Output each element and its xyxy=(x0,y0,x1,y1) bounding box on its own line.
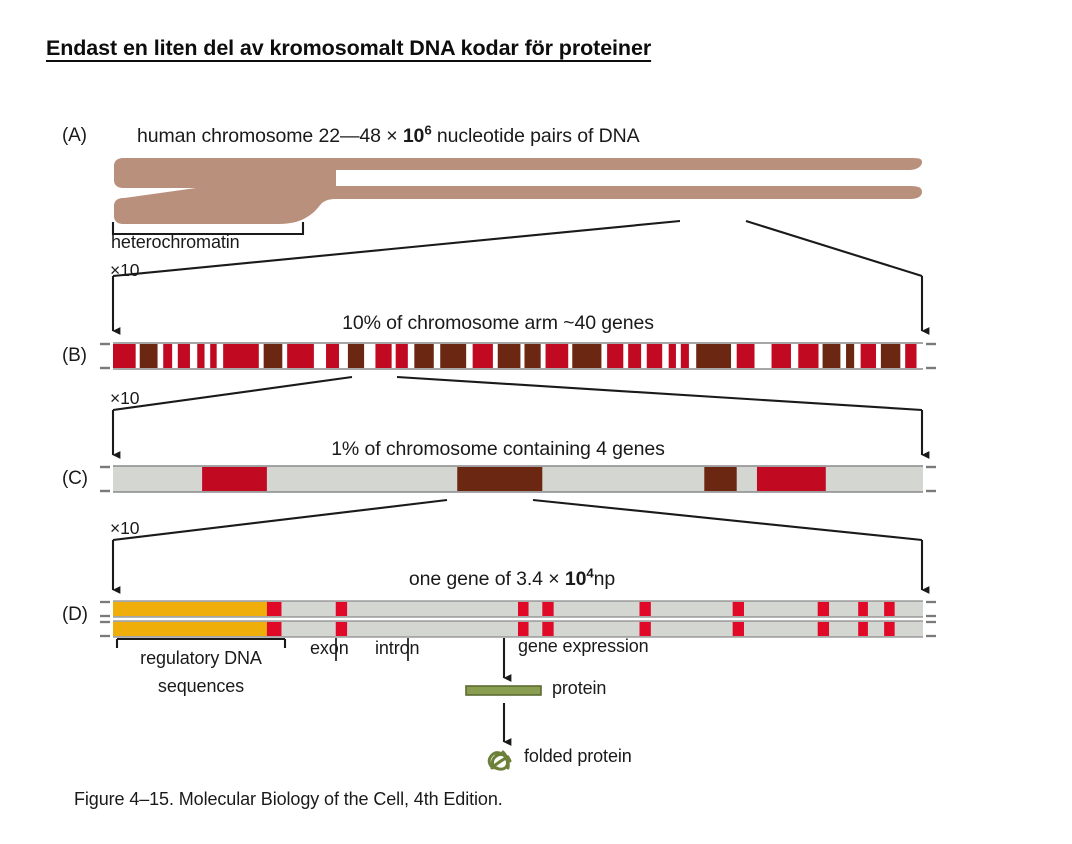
chromatin-band xyxy=(572,344,601,368)
panel-a-heading-post: nucleotide pairs of DNA xyxy=(437,125,640,147)
chromatin-band xyxy=(823,344,841,368)
panel-a-heading-exponent: 6 xyxy=(424,123,431,138)
panel-b-heading: 10% of chromosome arm ~40 genes xyxy=(342,312,654,335)
panel-d-heading-post: np xyxy=(594,568,616,590)
chromatin-band xyxy=(197,344,204,368)
exon-band xyxy=(858,602,868,616)
exon-band xyxy=(518,622,529,636)
chromatin-band xyxy=(905,344,916,368)
panel-a-heading-pre: human chromosome 22—48 xyxy=(137,125,381,147)
gene-expression-label: gene expression xyxy=(518,636,649,657)
chromatin-band xyxy=(681,344,689,368)
chromatin-band xyxy=(696,344,731,368)
exon-band xyxy=(818,622,829,636)
gene-block xyxy=(704,467,736,491)
panel-a-heading: human chromosome 22—48 × 106 nucleotide … xyxy=(137,125,639,148)
chromatin-band xyxy=(178,344,190,368)
folded-protein-label: folded protein xyxy=(524,746,632,767)
exon-band xyxy=(733,602,744,616)
chromatin-band xyxy=(440,344,466,368)
chromatin-band xyxy=(881,344,900,368)
chromatin-band xyxy=(396,344,408,368)
chromatin-band xyxy=(607,344,623,368)
regulatory-dna-region xyxy=(113,622,267,636)
exon-band xyxy=(818,602,829,616)
chromatin-band xyxy=(647,344,662,368)
exon-band xyxy=(336,602,347,616)
exon-band xyxy=(640,602,651,616)
protein-label: protein xyxy=(552,678,606,699)
folded-protein-icon xyxy=(489,752,510,769)
connector-a-to-b-right xyxy=(746,221,922,331)
regulatory-dna-label-line1: regulatory DNA xyxy=(140,648,262,669)
multiplication-sign: × xyxy=(386,125,397,147)
figure-container: (A) human chromosome 22—48 × 106 nucleot… xyxy=(0,0,1072,844)
panel-c-heading: 1% of chromosome containing 4 genes xyxy=(331,438,665,461)
exon-band xyxy=(884,602,895,616)
magnification-b-to-c: ×10 xyxy=(110,388,139,409)
exon-band xyxy=(542,602,553,616)
panel-b-letter: (B) xyxy=(62,345,87,367)
centromere-fill xyxy=(310,168,336,190)
exon-band xyxy=(733,622,744,636)
chromatin-band xyxy=(348,344,364,368)
exon-band xyxy=(267,602,282,616)
exon-band xyxy=(267,622,282,636)
chromatin-band xyxy=(546,344,569,368)
chromatin-band xyxy=(861,344,876,368)
panel-b-bar xyxy=(100,343,936,369)
panel-d-heading-exponent: 4 xyxy=(586,566,593,581)
figure-caption: Figure 4–15. Molecular Biology of the Ce… xyxy=(74,789,503,810)
panel-a-chromosome xyxy=(114,158,922,224)
chromatin-band xyxy=(628,344,641,368)
chromatin-band xyxy=(375,344,391,368)
chromatin-band xyxy=(669,344,676,368)
chromatin-band xyxy=(210,344,216,368)
gene-block xyxy=(202,467,267,491)
connector-c-to-d-left xyxy=(113,500,447,590)
chromatin-band xyxy=(524,344,540,368)
exon-band xyxy=(518,602,529,616)
heterochromatin-label: heterochromatin xyxy=(111,232,240,253)
chromatin-band xyxy=(737,344,755,368)
chromatin-band xyxy=(414,344,433,368)
exon-band xyxy=(884,622,895,636)
magnification-c-to-d: ×10 xyxy=(110,518,139,539)
chromatin-band xyxy=(163,344,172,368)
panel-c-letter: (C) xyxy=(62,468,88,490)
chromatin-band xyxy=(846,344,854,368)
regulatory-dna-region xyxy=(113,602,267,616)
chromatin-band xyxy=(264,344,283,368)
exon-band xyxy=(640,622,651,636)
exon-band xyxy=(336,622,347,636)
chromatin-band xyxy=(798,344,818,368)
chromatin-band xyxy=(772,344,791,368)
gene-block xyxy=(757,467,826,491)
exon-band xyxy=(542,622,553,636)
chromatin-band xyxy=(473,344,493,368)
protein-bar xyxy=(466,686,541,695)
panel-d-heading: one gene of 3.4 × 104np xyxy=(409,568,615,591)
panel-d-heading-pre: one gene of 3.4 xyxy=(409,568,543,590)
regulatory-dna-bracket xyxy=(117,639,285,648)
panel-a-letter: (A) xyxy=(62,125,87,147)
chromatin-band xyxy=(287,344,314,368)
exon-band xyxy=(858,622,868,636)
chromatin-band xyxy=(223,344,259,368)
panel-d-heading-base: 10 xyxy=(565,568,587,590)
intron-label: intron xyxy=(375,638,419,659)
chromatin-band xyxy=(140,344,158,368)
connector-b-to-c-left xyxy=(113,377,352,455)
panel-d-letter: (D) xyxy=(62,604,88,626)
magnification-a-to-b: ×10 xyxy=(110,260,139,281)
panel-a-heading-base: 10 xyxy=(403,125,425,147)
panel-d-strands xyxy=(100,601,936,637)
regulatory-dna-label-line2: sequences xyxy=(158,676,244,697)
exon-label: exon xyxy=(310,638,349,659)
chromatin-band xyxy=(326,344,339,368)
panel-c-bar xyxy=(100,466,936,492)
chromatin-band xyxy=(498,344,521,368)
gene-block xyxy=(457,467,542,491)
chromatin-band xyxy=(113,344,136,368)
multiplication-sign-d: × xyxy=(548,568,559,590)
